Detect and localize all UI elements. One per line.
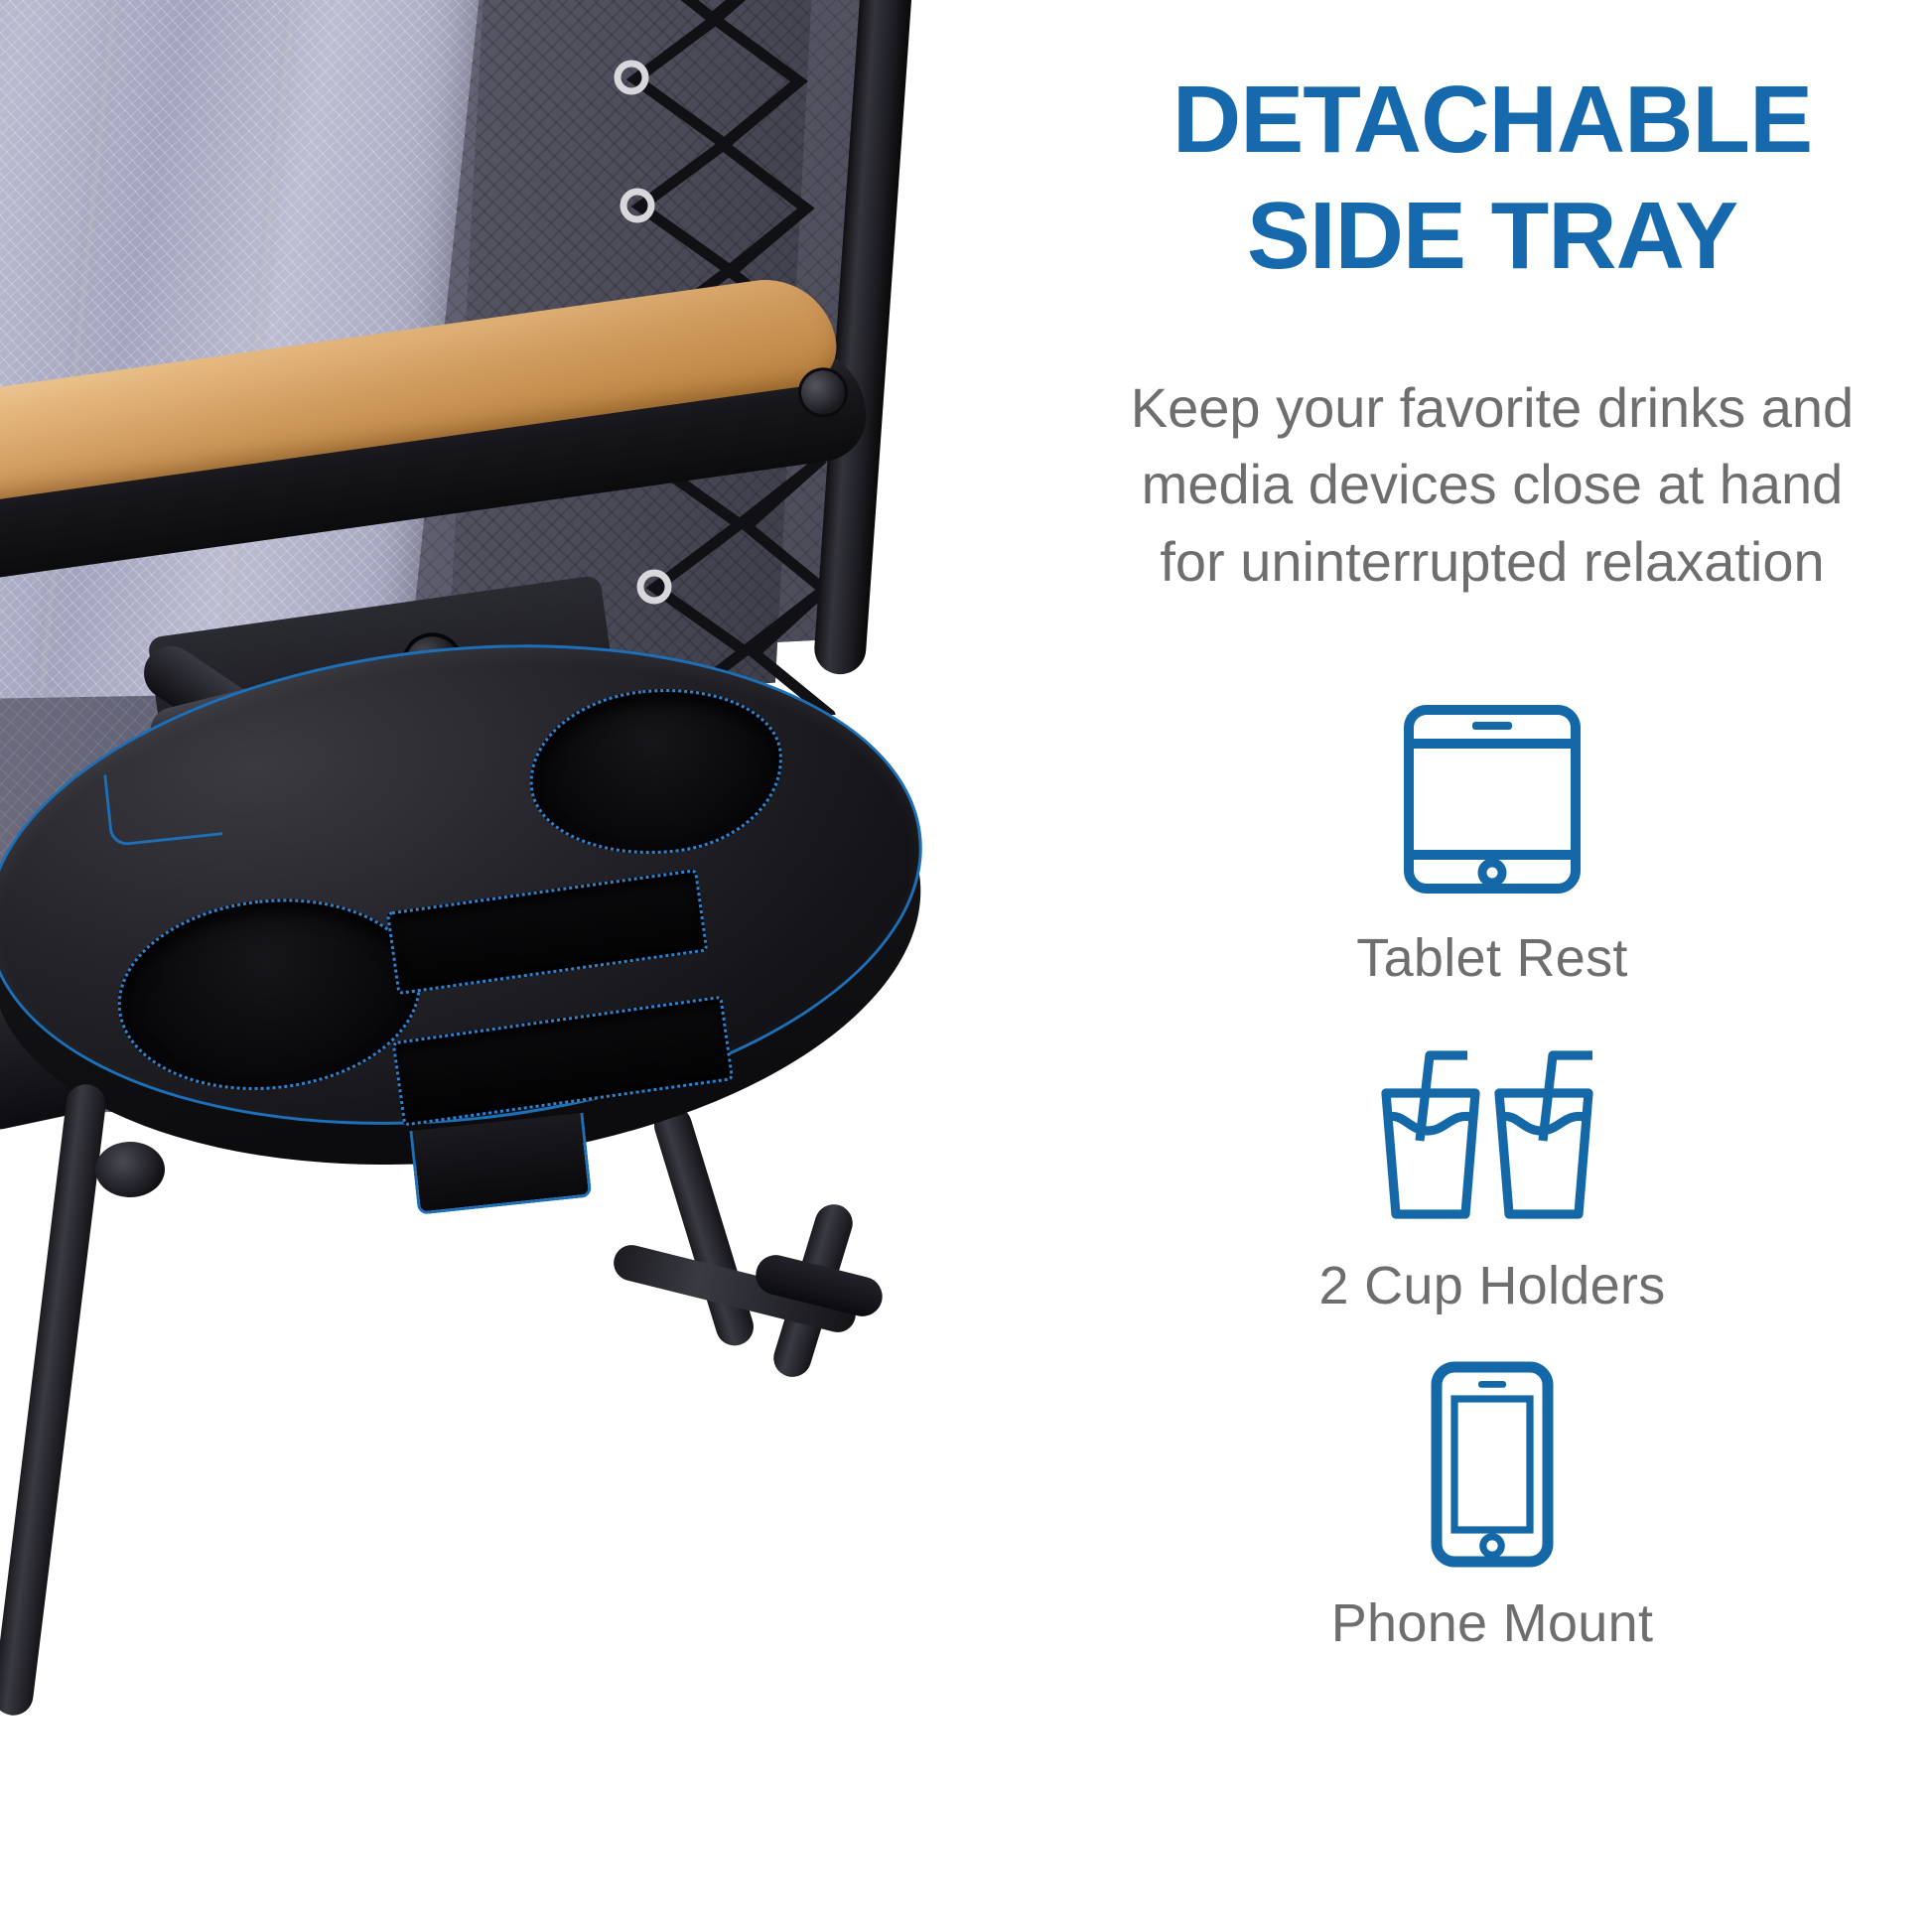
feature-label-phone-mount: Phone Mount xyxy=(1052,1592,1932,1654)
phone-icon xyxy=(1413,1357,1572,1572)
feature-list: Tablet Rest xyxy=(1052,695,1932,1698)
subheadline-line-2: media devices close at hand xyxy=(1074,446,1910,522)
headline-line-1: DETACHABLE xyxy=(1052,62,1932,178)
infographic-canvas: DETACHABLE SIDE TRAY Keep your favorite … xyxy=(0,0,1932,1932)
tray-mount-notch xyxy=(103,763,222,847)
two-drink-cups-icon xyxy=(1368,1037,1616,1226)
headline: DETACHABLE SIDE TRAY xyxy=(1052,62,1932,294)
cup-holder-left xyxy=(108,885,430,1105)
feature-label-cup-holders: 2 Cup Holders xyxy=(1052,1255,1932,1316)
cup-holder-right xyxy=(521,676,791,867)
headline-line-2: SIDE TRAY xyxy=(1052,178,1932,294)
tablet-rest-slot xyxy=(386,869,709,995)
tablet-icon-box xyxy=(1052,695,1932,903)
tablet-icon xyxy=(1397,700,1587,898)
chair-hinge-knob xyxy=(95,1142,165,1197)
subheadline: Keep your favorite drinks and media devi… xyxy=(1074,369,1910,600)
subheadline-line-3: for uninterrupted relaxation xyxy=(1074,523,1910,600)
feature-phone-mount: Phone Mount xyxy=(1052,1360,1932,1654)
cups-icon-box xyxy=(1052,1033,1932,1231)
tray-surface xyxy=(0,601,946,1169)
phone-icon-box xyxy=(1052,1360,1932,1569)
product-photo xyxy=(0,0,1052,1932)
tray-underside-tab xyxy=(409,1113,592,1215)
subheadline-line-1: Keep your favorite drinks and xyxy=(1074,369,1910,446)
copy-column: DETACHABLE SIDE TRAY Keep your favorite … xyxy=(1052,0,1932,1932)
feature-tablet-rest: Tablet Rest xyxy=(1052,695,1932,989)
feature-cup-holders: 2 Cup Holders xyxy=(1052,1033,1932,1316)
feature-label-tablet-rest: Tablet Rest xyxy=(1052,927,1932,989)
